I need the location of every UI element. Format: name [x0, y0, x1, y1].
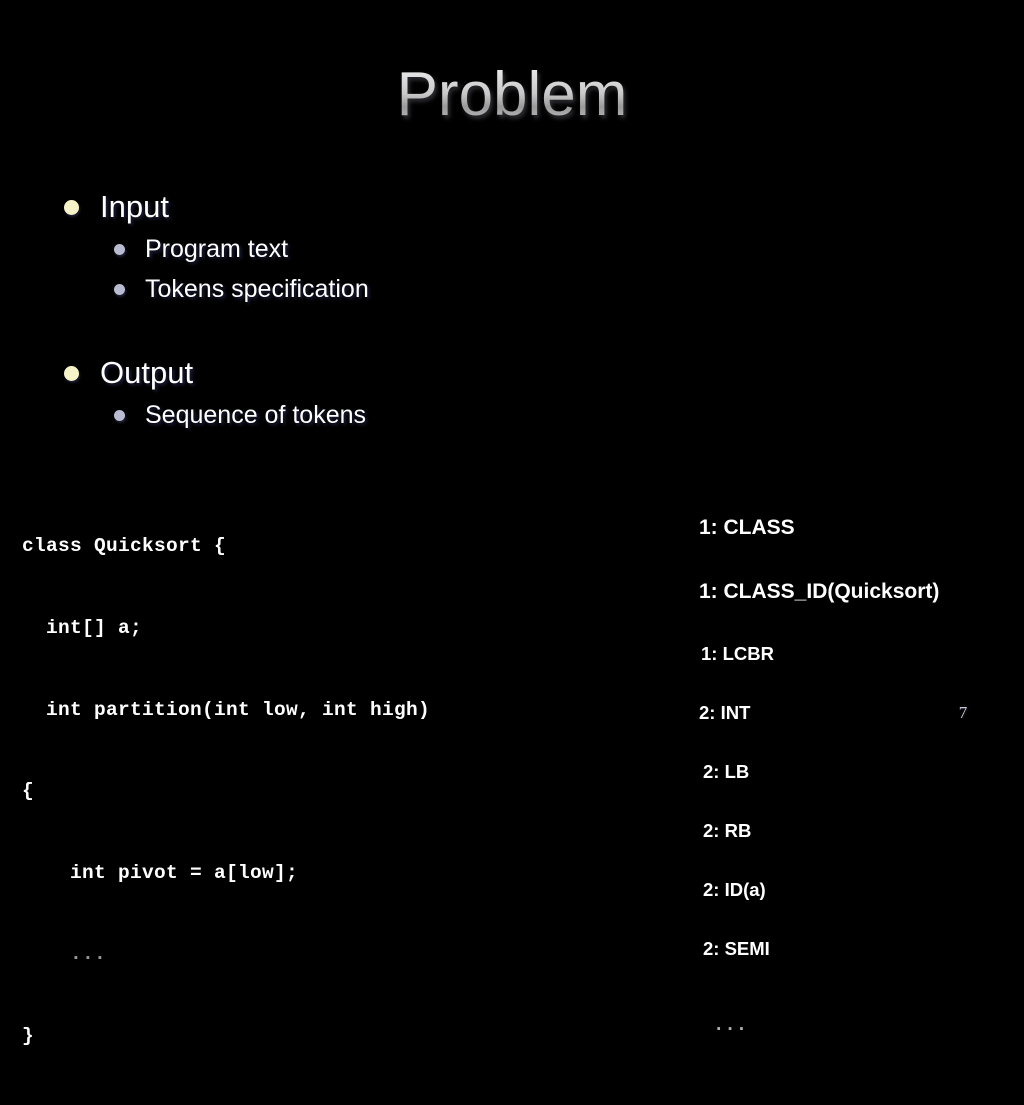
token-entry: 2: SEMI [699, 937, 1019, 960]
token-entry: 2: RB [699, 819, 1019, 842]
sub-bullet-dot-icon [114, 284, 125, 295]
section-spacer [0, 309, 620, 351]
page-title: Problem [0, 58, 1024, 132]
token-entry: 1: CLASS_ID(Quicksort) [699, 578, 1019, 606]
code-sample: class Quicksort { int[] a; int partition… [22, 479, 582, 1105]
sub-bullet-dot-icon [114, 410, 125, 421]
page-number: 7 [948, 703, 978, 723]
code-line: int[] a; [22, 615, 582, 642]
outline-subitem-label: Sequence of tokens [145, 401, 366, 429]
outline-item-input[interactable]: Input [0, 185, 620, 229]
outline-subitem-label: Tokens specification [145, 275, 369, 303]
token-entry: 2: ID(a) [699, 878, 1019, 901]
code-line-ellipsis: ... [22, 941, 582, 968]
outline-content: Input Program text Tokens specification … [0, 185, 620, 435]
token-output-list: 1: CLASS 1: CLASS_ID(Quicksort) 1: LCBR … [699, 478, 1019, 1072]
sub-bullet-dot-icon [114, 244, 125, 255]
code-line: int pivot = a[low]; [22, 860, 582, 887]
outline-subitem-tokens-specification[interactable]: Tokens specification [0, 269, 620, 309]
token-entry: 1: LCBR [699, 642, 1019, 665]
outline-item-label: Output [100, 355, 193, 390]
bullet-dot-icon [64, 366, 79, 381]
slide-canvas: Problem Input Program text Tokens specif… [0, 0, 1024, 768]
outline-subitem-label: Program text [145, 235, 288, 263]
outline-item-label: Input [100, 189, 169, 224]
outline-subitem-sequence-of-tokens[interactable]: Sequence of tokens [0, 395, 620, 435]
code-line: int partition(int low, int high) [22, 697, 582, 724]
code-line: class Quicksort { [22, 533, 582, 560]
outline-item-output[interactable]: Output [0, 351, 620, 395]
token-list-ellipsis: ... [699, 996, 1019, 1036]
token-entry: 1: CLASS [699, 514, 1019, 542]
outline-subitem-program-text[interactable]: Program text [0, 229, 620, 269]
code-line: } [22, 1023, 582, 1050]
code-line: { [22, 778, 582, 805]
token-entry: 2: LB [699, 760, 1019, 783]
bullet-dot-icon [64, 200, 79, 215]
